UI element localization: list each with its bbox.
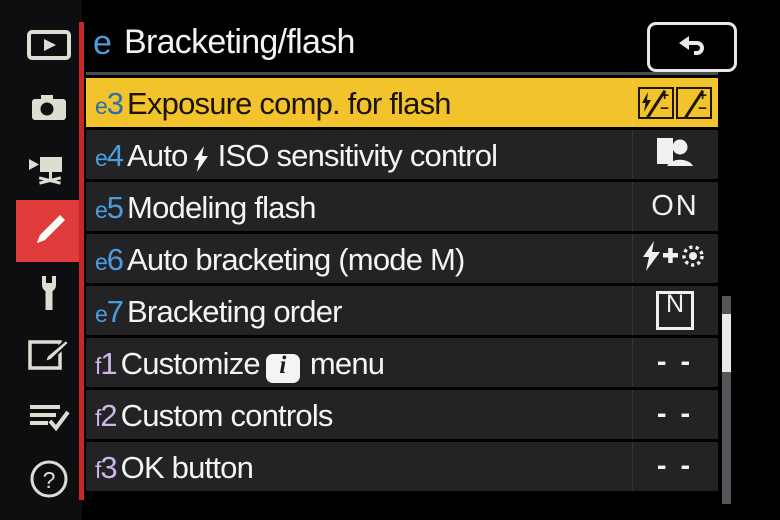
menu-row-code: f1	[95, 346, 117, 382]
menu-scrollbar-thumb[interactable]	[722, 314, 731, 372]
menu-row-code: e4	[95, 138, 123, 174]
menu-row-label: e5 Modeling flash	[95, 186, 316, 230]
sidebar: ?	[0, 0, 82, 520]
menu-row-value	[632, 234, 718, 283]
exposure-comp-icon: +−	[676, 87, 712, 119]
menu-row-value: - -	[632, 338, 718, 387]
movie-camera-icon	[26, 153, 72, 185]
flash-bolt-icon	[193, 146, 209, 172]
menu-row-label: f2 Custom controls	[95, 394, 333, 438]
sidebar-item-movie-shooting[interactable]	[16, 138, 82, 200]
wrench-icon	[34, 274, 64, 312]
camera-icon	[27, 91, 71, 123]
menu-row-value: +− +−	[632, 78, 718, 127]
value-text: - -	[657, 458, 693, 475]
person-icon	[653, 135, 697, 174]
value-text: ON	[651, 190, 699, 223]
playback-icon	[27, 30, 71, 60]
checklist-icon	[28, 402, 70, 432]
menu-row-label: f1 Customize i menu	[95, 342, 384, 386]
menu-row-label: e3 Exposure comp. for flash	[95, 82, 451, 126]
sidebar-item-retouch[interactable]	[16, 324, 82, 386]
sidebar-item-my-menu[interactable]	[16, 386, 82, 448]
menu-row-code: f2	[95, 398, 117, 434]
sidebar-item-photo-shooting[interactable]	[16, 76, 82, 138]
flash-exposure-comp-icon: +−	[638, 87, 674, 119]
value-text: - -	[657, 354, 693, 371]
pencil-icon	[29, 211, 69, 251]
question-mark-icon: ?	[29, 459, 69, 499]
menu-row-e7[interactable]: e7 Bracketing order N	[86, 286, 718, 338]
menu-row-value: ON	[632, 182, 718, 231]
menu-row-value: - -	[632, 390, 718, 439]
menu-row-label: e7 Bracketing order	[95, 290, 342, 334]
sidebar-item-setup[interactable]	[16, 262, 82, 324]
return-arrow-icon	[675, 31, 709, 64]
flash-plus-aperture-icon	[642, 240, 708, 277]
header-divider	[86, 72, 718, 75]
menu-row-code: f3	[95, 450, 117, 486]
value-text: - -	[657, 406, 693, 423]
menu-row-code: e3	[95, 86, 123, 122]
menu-row-f1[interactable]: f1 Customize i menu - -	[86, 338, 718, 390]
i-button-icon: i	[266, 354, 300, 383]
menu-row-e5[interactable]: e5 Modeling flash ON	[86, 182, 718, 234]
menu-row-value	[632, 130, 718, 179]
menu-row-label: e6 Auto bracketing (mode M)	[95, 238, 465, 282]
menu-row-e4[interactable]: e4 Auto ISO sensitivity control	[86, 130, 718, 182]
menu-row-f3[interactable]: f3 OK button - -	[86, 442, 718, 494]
sidebar-accent-divider	[79, 22, 84, 500]
menu-row-code: e7	[95, 294, 123, 330]
menu-row-code: e5	[95, 190, 123, 226]
menu-row-label: e4 Auto ISO sensitivity control	[95, 134, 497, 178]
n-box-icon: N	[656, 291, 694, 330]
page-title: Bracketing/flash	[124, 23, 355, 62]
retouch-brush-icon	[28, 338, 70, 372]
header-group-letter: e	[93, 24, 111, 63]
menu-row-value: N	[632, 286, 718, 335]
menu-row-label: f3 OK button	[95, 446, 253, 490]
svg-text:?: ?	[43, 467, 56, 493]
menu-row-f2[interactable]: f2 Custom controls - -	[86, 390, 718, 442]
menu-list: e3 Exposure comp. for flash +− +− e4	[86, 78, 718, 498]
sidebar-item-playback[interactable]	[16, 14, 82, 76]
header: e Bracketing/flash	[86, 18, 780, 72]
menu-row-e3[interactable]: e3 Exposure comp. for flash +− +−	[86, 78, 718, 130]
camera-menu-screen: ? e Bracketing/flash e3 Exposure comp. f…	[0, 0, 780, 520]
menu-row-e6[interactable]: e6 Auto bracketing (mode M)	[86, 234, 718, 286]
menu-row-value: - -	[632, 442, 718, 491]
back-button[interactable]	[647, 22, 737, 72]
menu-row-code: e6	[95, 242, 123, 278]
sidebar-item-help[interactable]: ?	[16, 448, 82, 510]
sidebar-item-custom-settings[interactable]	[16, 200, 82, 262]
